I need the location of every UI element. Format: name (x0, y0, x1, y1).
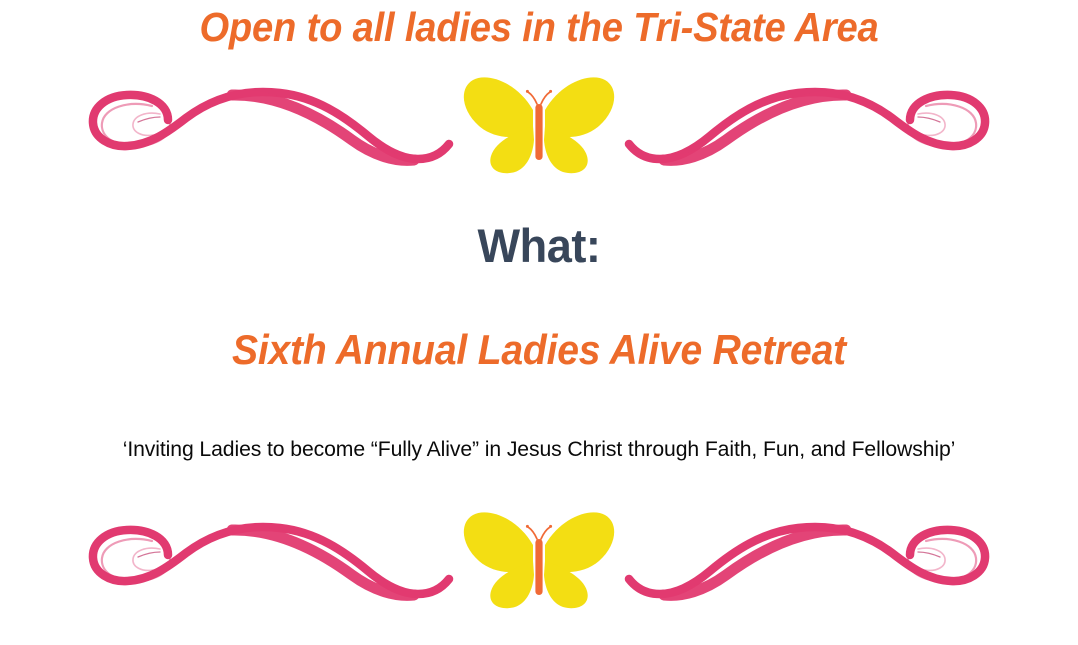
pink-swirl-flourish-left-icon (93, 527, 449, 595)
yellow-butterfly-icon (464, 512, 614, 608)
pink-swirl-flourish-left-icon (93, 92, 449, 160)
event-title: Sixth Annual Ladies Alive Retreat (38, 322, 1041, 378)
divider-top (0, 70, 1078, 174)
what-label: What: (22, 216, 1057, 276)
divider-bottom (0, 505, 1078, 609)
yellow-butterfly-icon (464, 77, 614, 173)
event-tagline: ‘Inviting Ladies to become “Fully Alive”… (8, 434, 1070, 464)
page-title: Open to all ladies in the Tri-State Area (38, 2, 1041, 52)
pink-swirl-flourish-right-icon (629, 527, 985, 595)
poster-canvas: Open to all ladies in the Tri-State Area (0, 0, 1078, 645)
pink-swirl-flourish-right-icon (629, 92, 985, 160)
